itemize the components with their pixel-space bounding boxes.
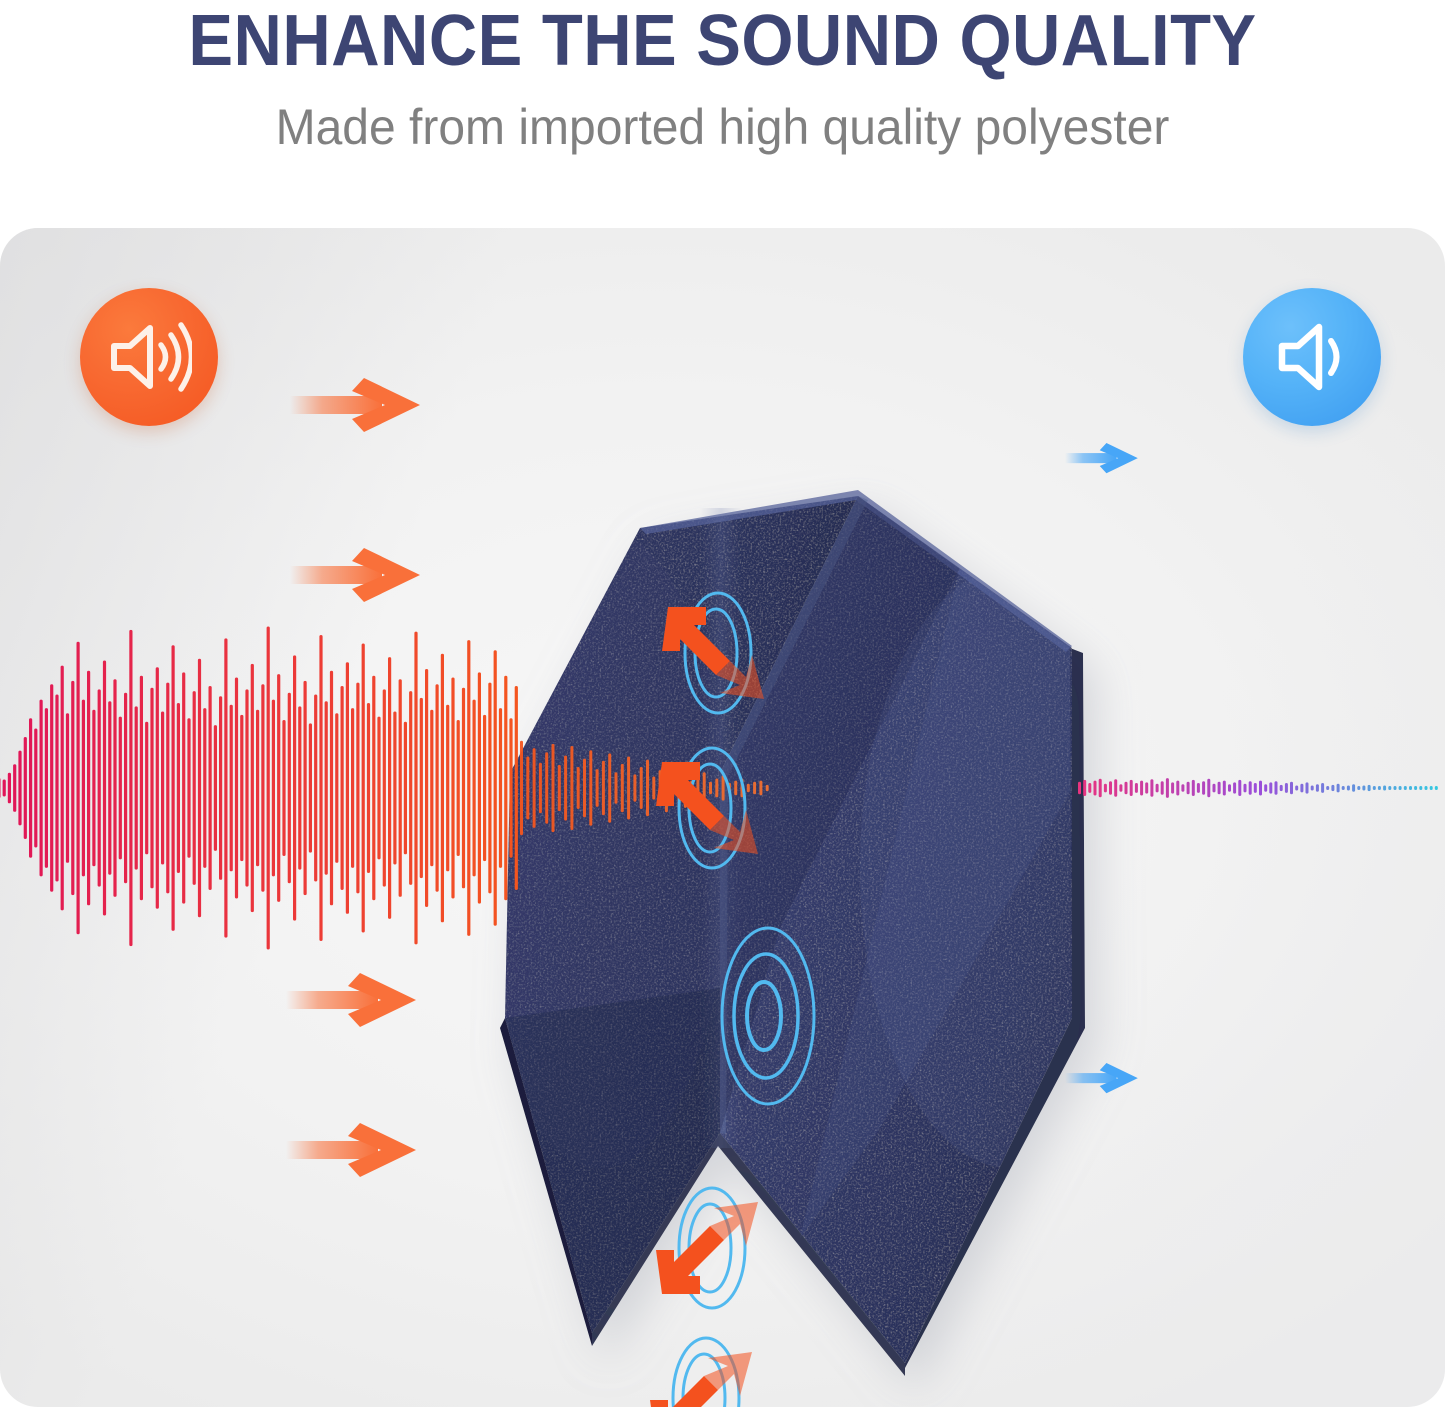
absorbed-waveform [520,741,769,836]
marker-bottom-1 [656,1188,758,1308]
incoming-waveform [0,627,518,950]
outgoing-arrow-group [1065,443,1138,1093]
incoming-arrow-1 [290,378,420,432]
panel-left-face [505,496,858,1333]
incoming-arrow-4 [286,1123,416,1177]
panel-right-face-shading [720,496,1160,1238]
outgoing-arrow-1 [1065,443,1138,473]
illustration-stage [0,228,1445,1407]
marker-top-1 [662,593,764,713]
speaker-loud-glyph [106,319,192,395]
incoming-arrow-2 [290,548,420,602]
panel-center-ridge [720,496,868,1134]
panel-bottom-thickness-edge [592,1133,905,1376]
marker-group [650,593,814,1407]
incoming-arrow-group [286,378,420,1177]
panel-right-thickness-edge [905,648,1085,1368]
speaker-quiet-icon [1243,288,1381,426]
page-subtitle: Made from imported high quality polyeste… [29,96,1416,158]
marker-bottom-2 [650,1338,752,1407]
panel-right-face [720,496,1072,1363]
speaker-quiet-glyph [1272,319,1352,395]
acoustic-panel-body [470,490,1160,1376]
panel-left-face-shading [470,528,730,1333]
marker-center-rings [722,928,814,1104]
panel-top-rim-highlight [640,490,1072,652]
page-title: ENHANCE THE SOUND QUALITY [51,2,1395,80]
header: ENHANCE THE SOUND QUALITY Made from impo… [0,0,1445,215]
panel-ridge-glow [700,508,742,1148]
transmitted-waveform [1078,778,1438,798]
outgoing-arrow-2 [1065,1063,1138,1093]
speaker-loud-icon [80,288,218,426]
panel-left-thickness-edge [500,1018,592,1346]
acoustic-panel-scene [0,228,1445,1407]
incoming-arrow-3 [286,973,416,1027]
marker-top-2 [656,748,758,868]
